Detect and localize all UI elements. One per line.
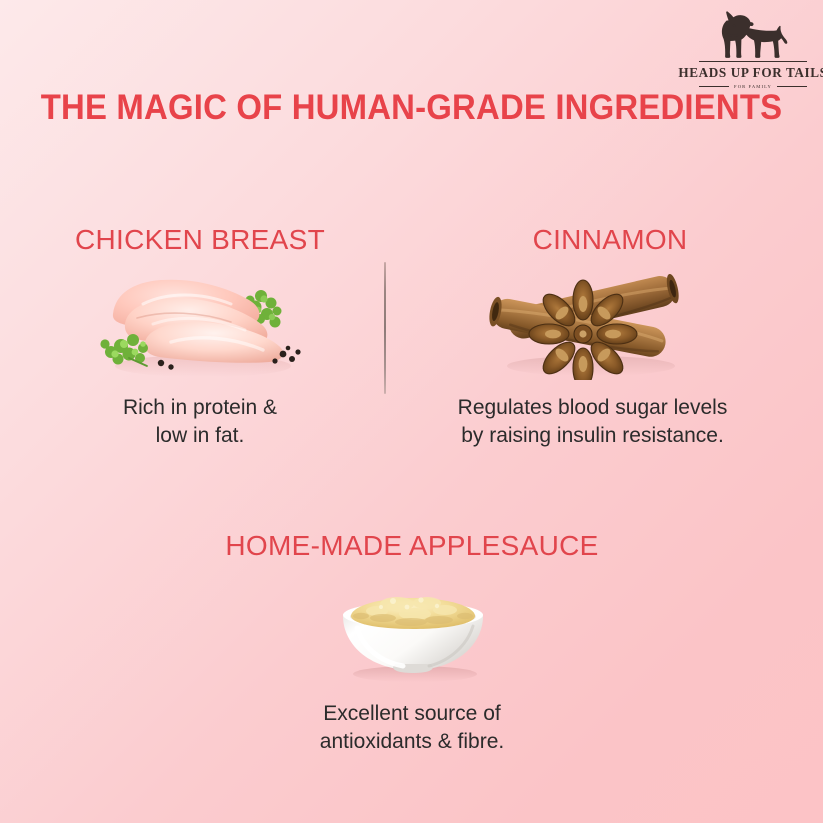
- ingredient-description-applesauce: Excellent source of antioxidants & fibre…: [232, 700, 592, 755]
- desc-line: Regulates blood sugar levels by raising …: [405, 394, 780, 449]
- column-divider: [384, 262, 386, 394]
- chicken-breast-photo: [85, 262, 305, 380]
- brand-logo: HEADS UP FOR TAILS FOR FAMILY: [695, 10, 811, 90]
- brand-name: HEADS UP FOR TAILS: [678, 65, 823, 81]
- desc-line: Rich in protein & low in fat.: [55, 394, 345, 449]
- dog-silhouette-icon: [716, 10, 790, 60]
- logo-divider-left: [699, 86, 729, 87]
- logo-divider-right: [777, 86, 807, 87]
- page-title: THE MAGIC OF HUMAN-GRADE INGREDIENTS: [25, 88, 799, 128]
- ingredient-heading-cinnamon: CINNAMON: [440, 224, 780, 256]
- cinnamon-photo: [485, 262, 697, 380]
- logo-divider-top: [699, 61, 807, 62]
- applesauce-photo: [323, 572, 503, 684]
- ingredient-description-cinnamon: Regulates blood sugar levels by raising …: [405, 394, 780, 449]
- desc-line: Excellent source of antioxidants & fibre…: [232, 700, 592, 755]
- ingredient-heading-chicken-breast: CHICKEN BREAST: [30, 224, 370, 256]
- ingredient-description-chicken-breast: Rich in protein & low in fat.: [55, 394, 345, 449]
- ingredients-poster: HEADS UP FOR TAILS FOR FAMILY THE MAGIC …: [0, 0, 823, 823]
- ingredient-heading-applesauce: HOME-MADE APPLESAUCE: [132, 530, 692, 562]
